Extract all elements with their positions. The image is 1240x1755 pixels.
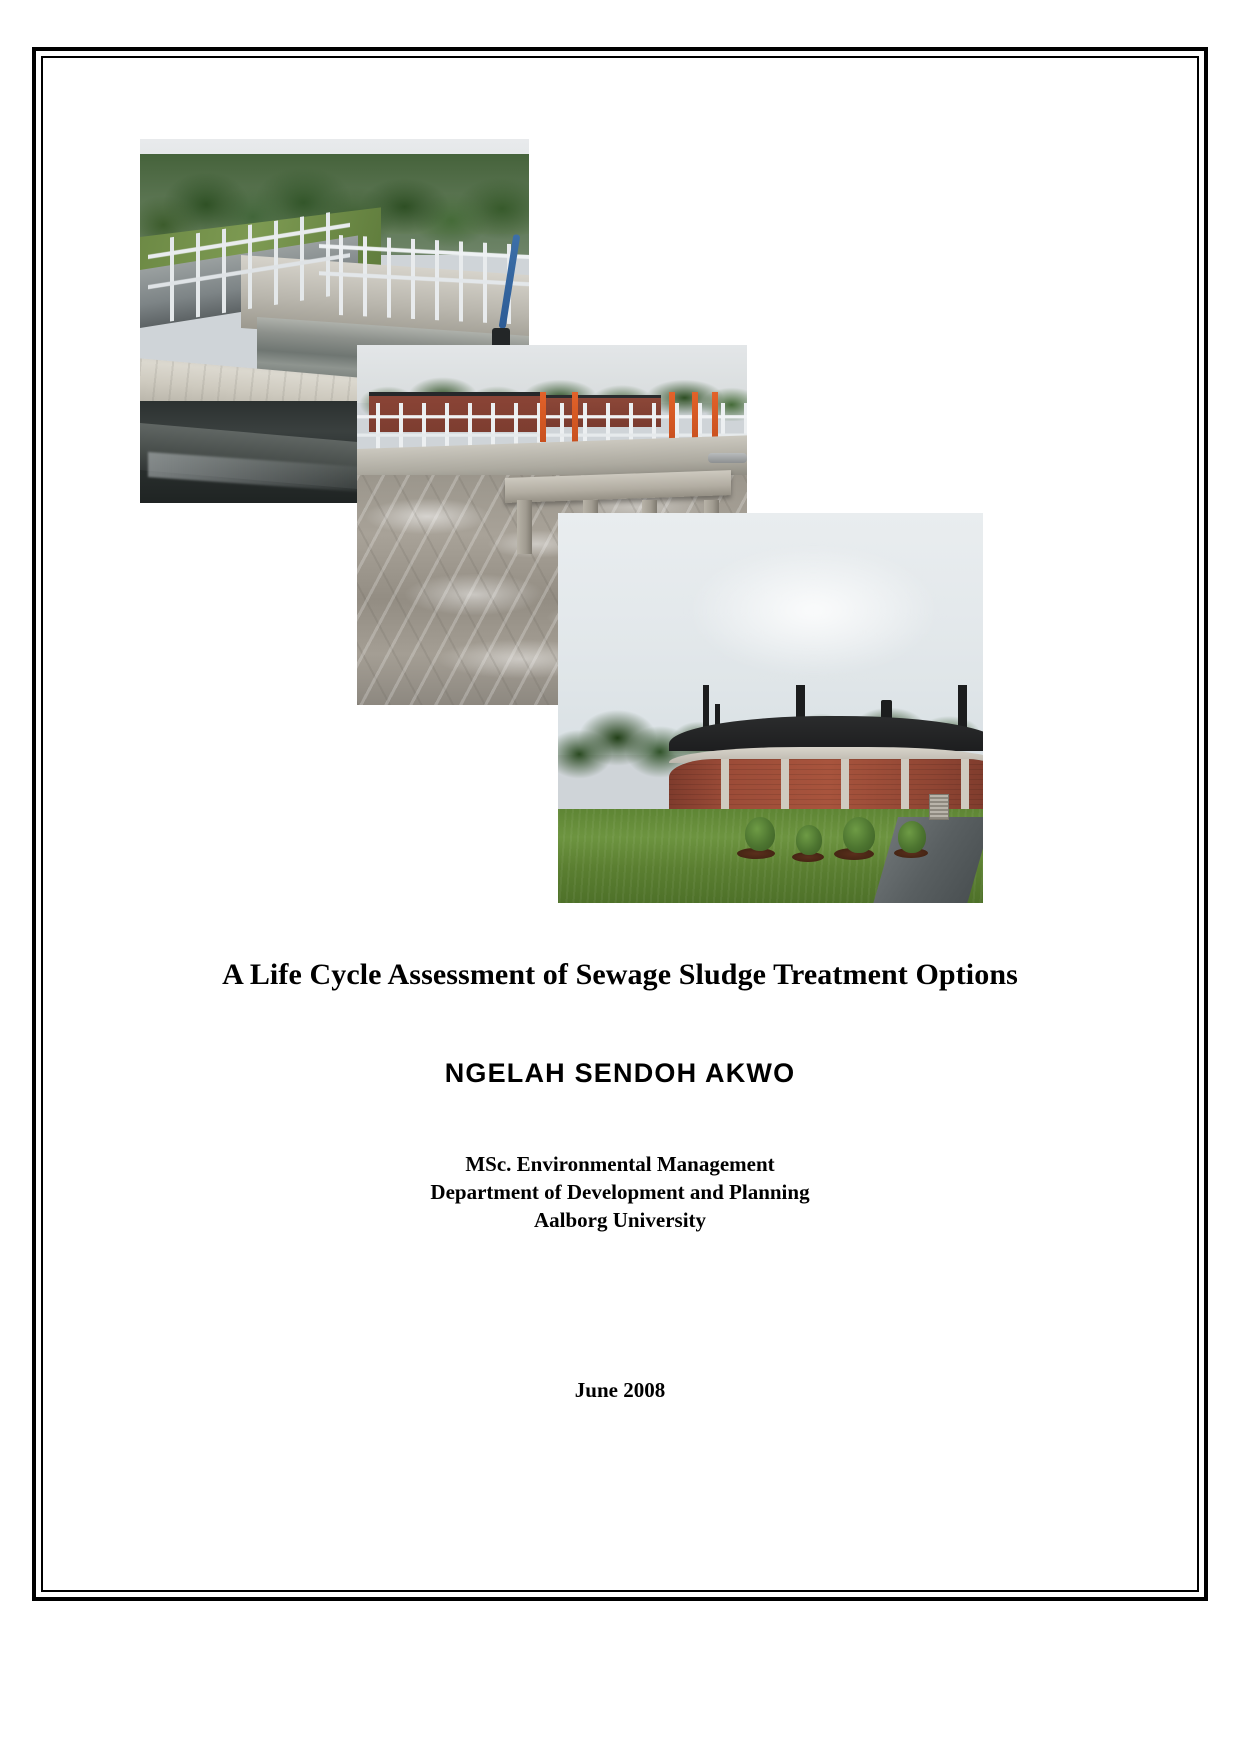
shrub bbox=[745, 817, 775, 851]
vent-stack bbox=[703, 685, 709, 732]
affiliation-institution: Aalborg University bbox=[44, 1207, 1196, 1235]
bridge-pier bbox=[517, 500, 532, 554]
orange-post bbox=[669, 392, 675, 442]
orange-post bbox=[572, 392, 578, 442]
title-block: A Life Cycle Assessment of Sewage Sludge… bbox=[44, 958, 1196, 1403]
publication-date: June 2008 bbox=[44, 1378, 1196, 1403]
author-name: NGELAH SENDOH AKWO bbox=[44, 1058, 1196, 1089]
orange-post bbox=[540, 392, 546, 442]
shrub bbox=[843, 817, 875, 853]
shrub bbox=[898, 821, 926, 853]
affiliation-department: Department of Development and Planning bbox=[44, 1179, 1196, 1207]
photo-digester-building bbox=[558, 513, 983, 903]
orange-post bbox=[712, 392, 718, 442]
louver-vent bbox=[929, 794, 949, 820]
handrail-right bbox=[319, 234, 529, 325]
cover-page-content: A Life Cycle Assessment of Sewage Sludge… bbox=[44, 58, 1196, 1590]
affiliation-block: MSc. Environmental Management Department… bbox=[44, 1151, 1196, 1235]
process-pipe bbox=[708, 453, 747, 463]
document-title: A Life Cycle Assessment of Sewage Sludge… bbox=[44, 958, 1196, 992]
cloud-highlight bbox=[686, 544, 941, 677]
affiliation-degree: MSc. Environmental Management bbox=[44, 1151, 1196, 1179]
orange-post bbox=[692, 392, 698, 442]
shrub bbox=[796, 825, 822, 855]
